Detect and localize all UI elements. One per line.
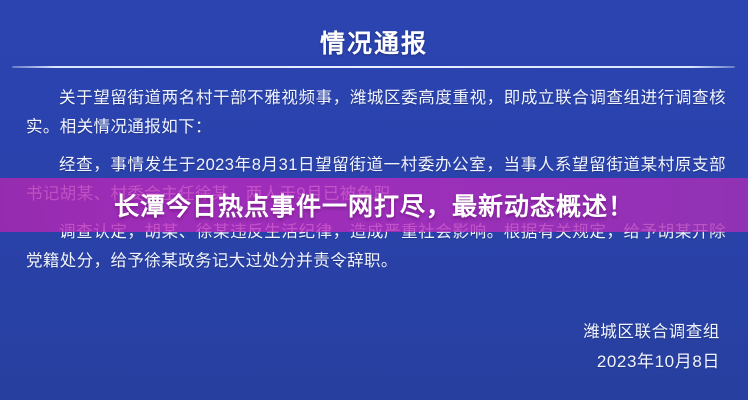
signature-date: 2023年10月8日 [583,347,720,376]
signature-block: 潍城区联合调查组 2023年10月8日 [583,318,720,376]
notice-poster: 情况通报 关于望留街道两名村干部不雅视频事，潍城区委高度重视，即成立联合调查组进… [0,0,748,400]
title-divider [12,66,735,68]
signature-organization: 潍城区联合调查组 [583,318,720,347]
page-title: 情况通报 [0,24,748,60]
overlay-banner: 长潭今日热点事件一网打尽，最新动态概述！ [0,178,748,232]
overlay-headline: 长潭今日热点事件一网打尽，最新动态概述！ [114,187,634,223]
notice-paragraph: 关于望留街道两名村干部不雅视频事，潍城区委高度重视，即成立联合调查组进行调查核实… [26,84,726,142]
